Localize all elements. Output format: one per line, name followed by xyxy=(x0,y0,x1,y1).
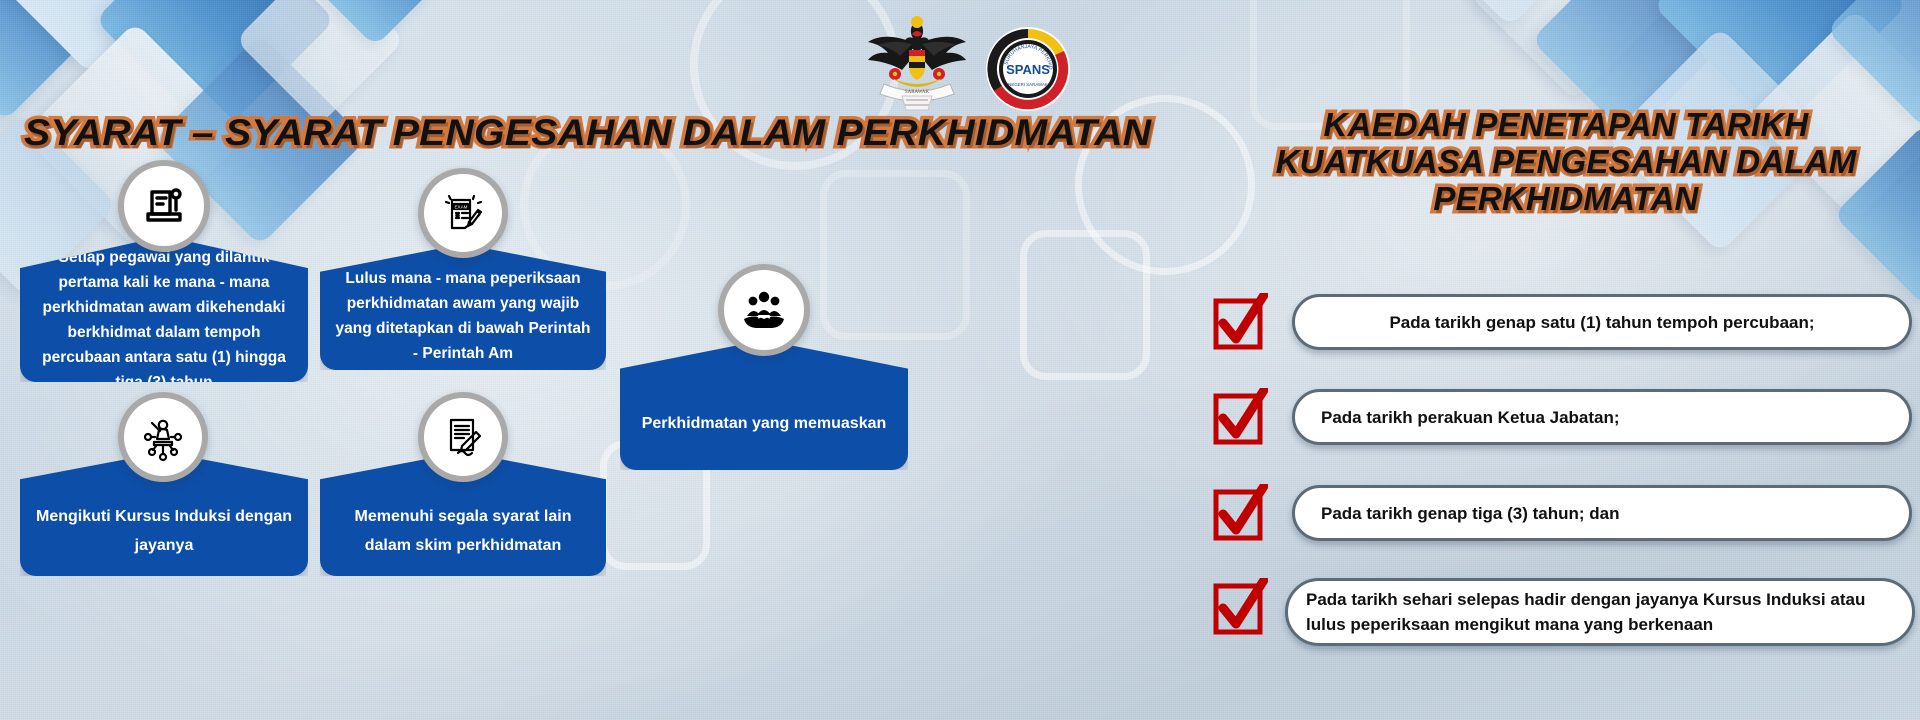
svg-text:EXAM: EXAM xyxy=(454,204,467,209)
red-check-icon xyxy=(1212,578,1268,636)
svg-text:SARAWAK: SARAWAK xyxy=(905,90,930,95)
checklist-item-1[interactable]: Pada tarikh genap satu (1) tahun tempoh … xyxy=(1292,294,1912,350)
sarawak-coat-of-arms-logo: SARAWAK xyxy=(862,8,972,112)
exam-checklist-icon: EXAM xyxy=(418,168,508,258)
people-in-hand-icon xyxy=(718,264,810,356)
svg-text:NEGERI SARAWAK: NEGERI SARAWAK xyxy=(1008,82,1048,87)
appointment-letter-icon xyxy=(118,160,210,252)
checklist-item-4-text: Pada tarikh sehari selepas hadir dengan … xyxy=(1288,587,1912,637)
card-service-text: Perkhidmatan yang memuaskan xyxy=(628,373,901,438)
checklist-item-1-text: Pada tarikh genap satu (1) tahun tempoh … xyxy=(1295,310,1909,335)
infographic-canvas: SARAWAK SURUHANJAYA PERKHIDMATAN AWAM SP… xyxy=(0,0,1920,720)
signed-document-icon xyxy=(418,392,508,482)
red-check-icon xyxy=(1212,293,1268,351)
checklist-item-2-text: Pada tarikh perakuan Ketua Jabatan; xyxy=(1295,405,1909,430)
card-exam-text: Lulus mana - mana peperiksaan perkhidmat… xyxy=(320,248,606,366)
checklist-item-2[interactable]: Pada tarikh perakuan Ketua Jabatan; xyxy=(1292,389,1912,445)
right-section-title: KAEDAH PENETAPAN TARIKH KUATKUASA PENGES… xyxy=(1246,106,1886,217)
checklist-item-3[interactable]: Pada tarikh genap tiga (3) tahun; dan xyxy=(1292,485,1912,541)
card-service: Perkhidmatan yang memuaskan xyxy=(620,340,908,470)
checklist-item-3-text: Pada tarikh genap tiga (3) tahun; dan xyxy=(1295,501,1909,526)
spans-logo-label: SPANS xyxy=(1006,62,1050,77)
red-check-icon xyxy=(1212,484,1268,542)
checklist-item-4[interactable]: Pada tarikh sehari selepas hadir dengan … xyxy=(1285,578,1915,646)
training-course-icon xyxy=(118,392,208,482)
red-check-icon xyxy=(1212,388,1268,446)
left-section-title: SYARAT – SYARAT PENGESAHAN DALAM PERKHID… xyxy=(24,112,1151,154)
spans-logo: SURUHANJAYA PERKHIDMATAN AWAM SPANS NEGE… xyxy=(985,26,1071,112)
